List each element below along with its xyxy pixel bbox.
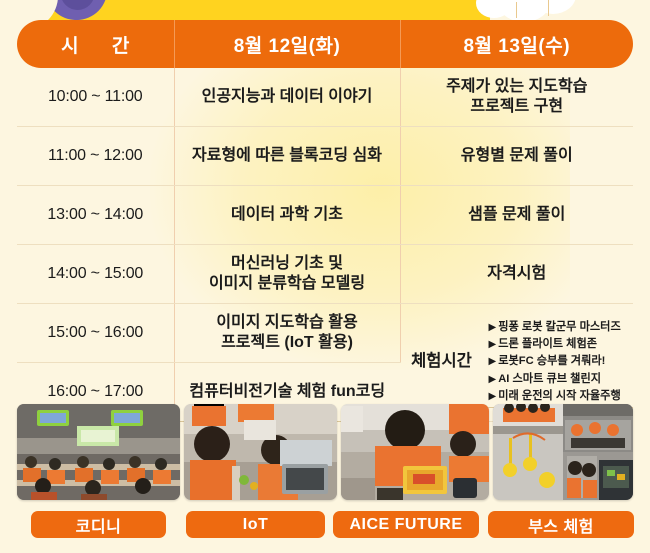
- cell-time: 15:00 ~ 16:00: [17, 304, 174, 363]
- schedule-table: 시 간 8월 12일(화) 8월 13일(수) 10:00 ~ 11:00 인공…: [17, 20, 633, 422]
- cell-day1-line2: 프로젝트 (IoT 활용): [179, 333, 396, 353]
- photo-students-building-kit-image: [184, 404, 337, 500]
- gallery-label-aice-future[interactable]: AICE FUTURE: [333, 511, 479, 538]
- photo-classroom-lecture: [17, 404, 180, 500]
- list-item: ▶핑퐁 로봇 칼군무 마스터즈: [489, 319, 630, 336]
- cell-time: 11:00 ~ 12:00: [17, 127, 174, 186]
- column-header-time: 시 간: [17, 20, 174, 68]
- column-header-day1: 8월 12일(화): [174, 20, 400, 68]
- table-row: 10:00 ~ 11:00 인공지능과 데이터 이야기 주제가 있는 지도학습 …: [17, 68, 633, 127]
- bullet-arrow-icon: ▶: [489, 374, 497, 385]
- cloud-detail-line: [516, 2, 517, 18]
- photo-student-with-board-image: [341, 404, 489, 500]
- schedule-table-head: 시 간 8월 12일(화) 8월 13일(수): [17, 20, 633, 68]
- list-item: ▶드론 플라이트 체험존: [489, 336, 630, 353]
- cell-day2-session: 자격시험: [400, 245, 633, 304]
- poster-schedule-page: 시 간 8월 12일(화) 8월 13일(수) 10:00 ~ 11:00 인공…: [0, 0, 650, 553]
- photo-strip: [0, 404, 650, 504]
- cell-day1-session: 이미지 지도학습 활용 프로젝트 (IoT 활용): [174, 304, 400, 363]
- list-item: ▶미래 운전의 시작 자율주행: [489, 388, 630, 405]
- cell-day1-session: 자료형에 따른 블록코딩 심화: [174, 127, 400, 186]
- column-header-day2: 8월 13일(수): [400, 20, 633, 68]
- experience-inner-table: 체험시간 ▶핑퐁 로봇 칼군무 마스터즈 ▶드론 플라이트 체험존 ▶로봇FC …: [401, 317, 634, 407]
- list-item-label: 로봇FC 승부를 겨뤄라!: [498, 355, 605, 367]
- cell-day1-session: 인공지능과 데이터 이야기: [174, 68, 400, 127]
- experience-row: 체험시간 ▶핑퐁 로봇 칼군무 마스터즈 ▶드론 플라이트 체험존 ▶로봇FC …: [401, 317, 634, 407]
- list-item: ▶로봇FC 승부를 겨뤄라!: [489, 353, 630, 370]
- cell-time: 13:00 ~ 14:00: [17, 186, 174, 245]
- cell-day1-session: 머신러닝 기초 및 이미지 분류학습 모델링: [174, 245, 400, 304]
- photo-students-building-kit: [184, 404, 337, 500]
- bullet-arrow-icon: ▶: [489, 339, 497, 350]
- cell-day1-session: 데이터 과학 기초: [174, 186, 400, 245]
- photo-student-with-board: [341, 404, 489, 500]
- list-item: ▶AI 스마트 큐브 챌린지: [489, 371, 630, 388]
- cell-day1-line2: 이미지 분류학습 모델링: [179, 274, 396, 294]
- experience-list-cell: ▶핑퐁 로봇 칼군무 마스터즈 ▶드론 플라이트 체험존 ▶로봇FC 승부를 겨…: [483, 317, 634, 407]
- cell-day1-line1: 머신러닝 기초 및: [179, 254, 396, 274]
- photo-booth-experience-collage-image: [493, 404, 633, 500]
- gallery-label-booth-experience[interactable]: 부스 체험: [488, 511, 634, 538]
- bullet-arrow-icon: ▶: [489, 356, 497, 367]
- list-item-label: 미래 운전의 시작 자율주행: [498, 390, 621, 402]
- cell-time: 10:00 ~ 11:00: [17, 68, 174, 127]
- gallery-label-codini[interactable]: 코디니: [31, 511, 166, 538]
- header-row: 시 간 8월 12일(화) 8월 13일(수): [17, 20, 633, 68]
- schedule-table-container: 시 간 8월 12일(화) 8월 13일(수) 10:00 ~ 11:00 인공…: [17, 20, 633, 422]
- experience-label: 체험시간: [401, 317, 483, 407]
- cell-day2-line1: 주제가 있는 지도학습: [405, 77, 630, 97]
- table-row: 15:00 ~ 16:00 이미지 지도학습 활용 프로젝트 (IoT 활용) …: [17, 304, 633, 363]
- column-header-time-label: 시 간: [47, 36, 143, 57]
- experience-list: ▶핑퐁 로봇 칼군무 마스터즈 ▶드론 플라이트 체험존 ▶로봇FC 승부를 겨…: [489, 319, 630, 404]
- schedule-table-body: 10:00 ~ 11:00 인공지능과 데이터 이야기 주제가 있는 지도학습 …: [17, 68, 633, 422]
- table-row: 14:00 ~ 15:00 머신러닝 기초 및 이미지 분류학습 모델링 자격시…: [17, 245, 633, 304]
- table-row: 13:00 ~ 14:00 데이터 과학 기초 샘플 문제 풀이: [17, 186, 633, 245]
- list-item-label: AI 스마트 큐브 챌린지: [498, 373, 601, 385]
- list-item-label: 핑퐁 로봇 칼군무 마스터즈: [498, 321, 621, 333]
- cell-day1-line1: 이미지 지도학습 활용: [179, 313, 396, 333]
- cloud-detail-line: [548, 0, 549, 16]
- cell-day2-session: 유형별 문제 풀이: [400, 127, 633, 186]
- photo-classroom-lecture-image: [17, 404, 180, 500]
- gallery-label-iot[interactable]: IoT: [186, 511, 325, 538]
- cell-day2-session: 주제가 있는 지도학습 프로젝트 구현: [400, 68, 633, 127]
- photo-booth-experience-collage: [493, 404, 633, 500]
- table-row: 11:00 ~ 12:00 자료형에 따른 블록코딩 심화 유형별 문제 풀이: [17, 127, 633, 186]
- bullet-arrow-icon: ▶: [489, 391, 497, 402]
- list-item-label: 드론 플라이트 체험존: [498, 338, 597, 350]
- bullet-arrow-icon: ▶: [489, 322, 497, 333]
- cell-day2-session: 샘플 문제 풀이: [400, 186, 633, 245]
- gallery-labels: 코디니 IoT AICE FUTURE 부스 체험: [0, 511, 650, 543]
- cell-time: 14:00 ~ 15:00: [17, 245, 174, 304]
- cell-day2-line2: 프로젝트 구현: [405, 97, 630, 117]
